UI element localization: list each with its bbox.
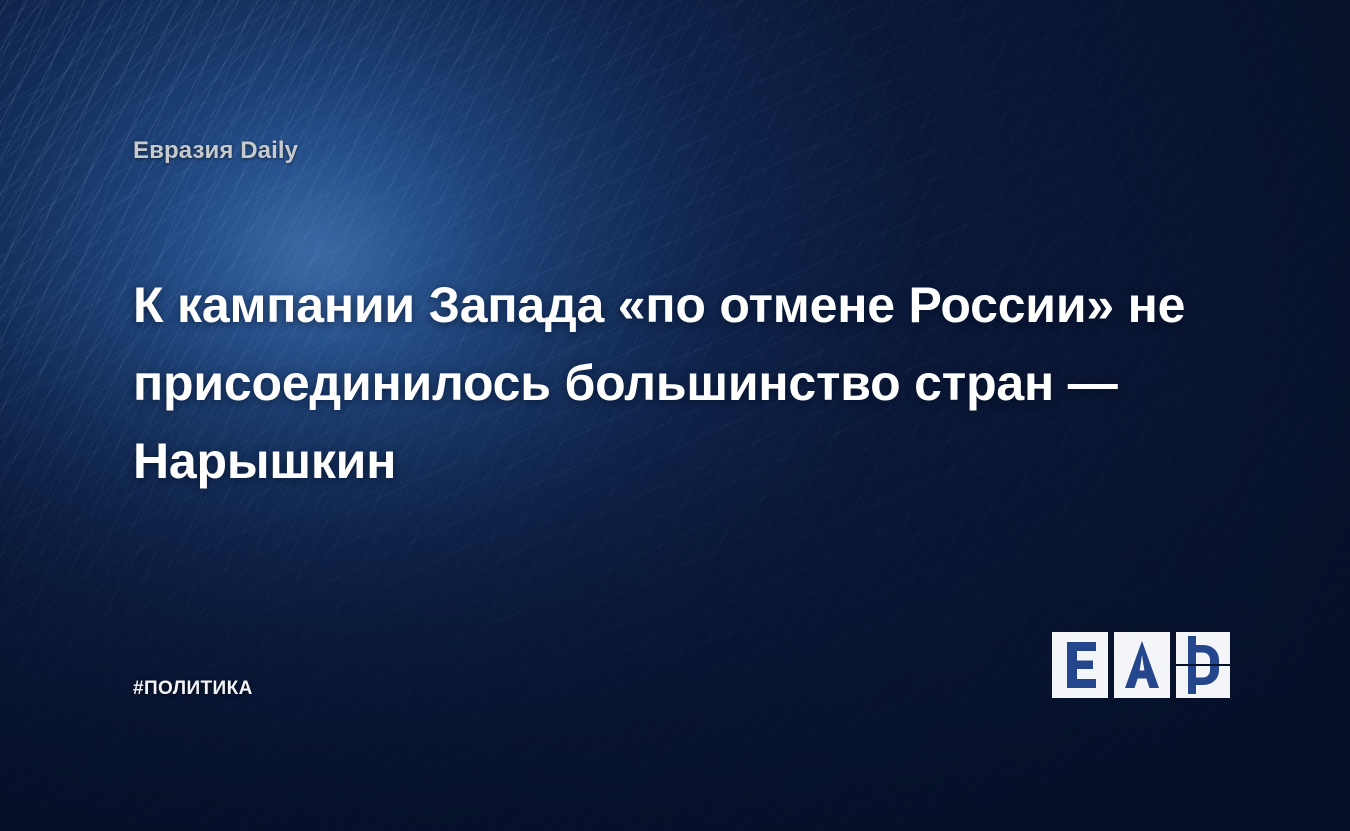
brand-name: Евразия Daily	[133, 137, 298, 165]
logo-letter-e-tile	[1052, 632, 1108, 698]
logo-letter-d-bottom-icon	[1176, 666, 1230, 698]
share-card: Евразия Daily К кампании Запада «по отме…	[0, 0, 1350, 831]
logo-letter-e-icon	[1052, 632, 1108, 698]
category-hashtag: #ПОЛИТИКА	[133, 678, 253, 700]
logo-letter-a-icon	[1114, 632, 1170, 698]
logo-letter-d-bottom-tile	[1176, 666, 1230, 698]
logo-letter-a-tile	[1114, 632, 1170, 698]
logo-letter-d-top-icon	[1176, 632, 1230, 664]
logo-letter-d-top-tile	[1176, 632, 1230, 664]
eadaily-logo	[1052, 632, 1230, 698]
page-title: К кампании Запада «по отмене России» не …	[133, 266, 1243, 500]
